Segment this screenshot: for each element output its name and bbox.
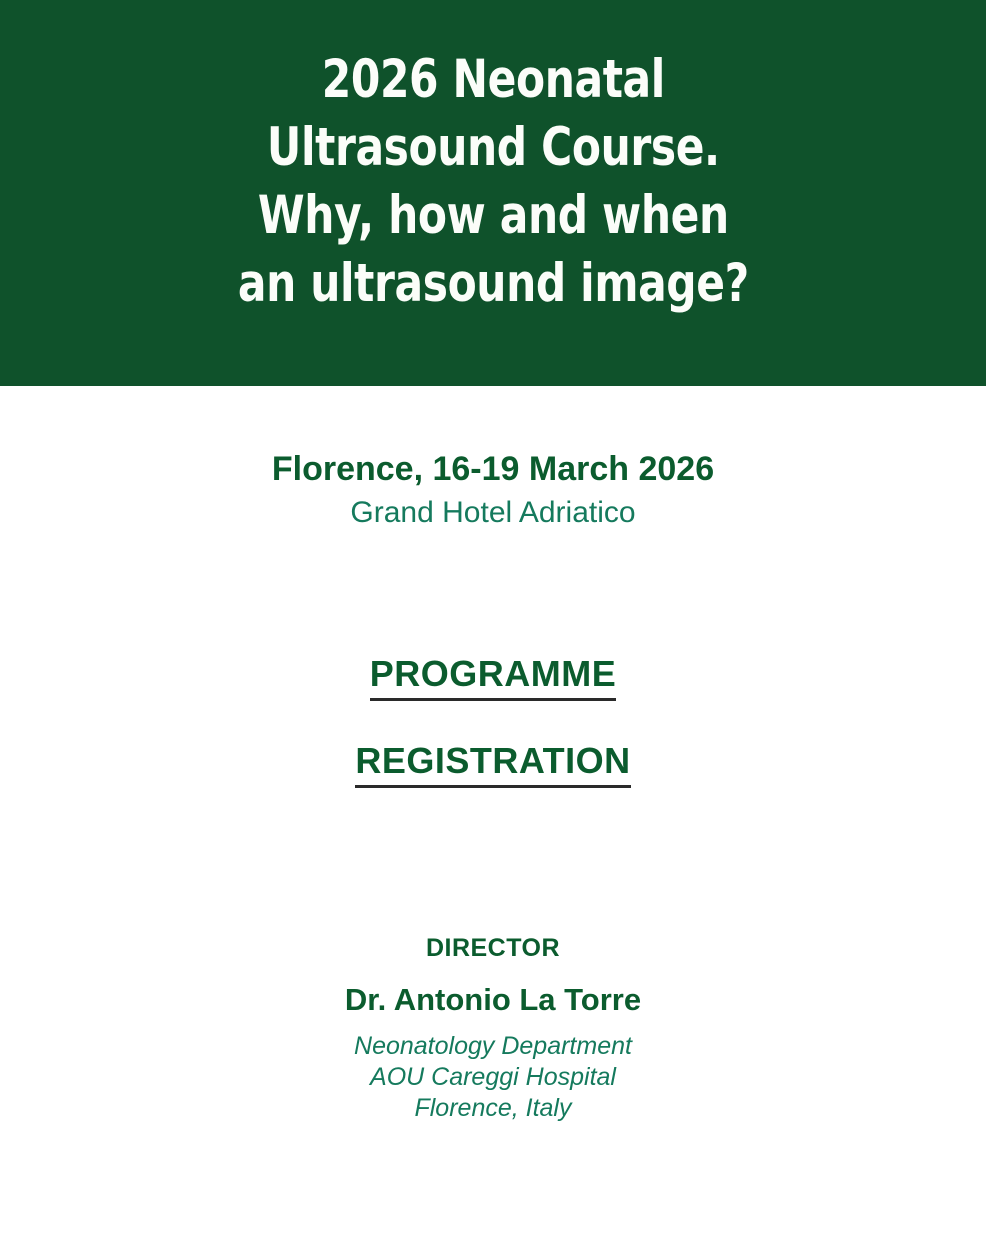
page-title-line-4: an ultrasound image? [238, 250, 749, 318]
page-title-line-1: 2026 Neonatal [238, 46, 749, 114]
event-venue: Grand Hotel Adriatico [0, 494, 986, 532]
hero-banner: 2026 Neonatal Ultrasound Course. Why, ho… [0, 0, 986, 386]
programme-link-row: PROGRAMME [0, 652, 986, 701]
director-name: Dr. Antonio La Torre [0, 981, 986, 1019]
registration-link[interactable]: REGISTRATION [355, 739, 630, 788]
document-body: Florence, 16-19 March 2026 Grand Hotel A… [0, 448, 986, 1124]
affiliation-line-1: Neonatology Department [0, 1031, 986, 1062]
event-dates: Florence, 16-19 March 2026 [0, 448, 986, 490]
document-links: PROGRAMME REGISTRATION [0, 652, 986, 788]
affiliation-line-3: Florence, Italy [0, 1093, 986, 1124]
page-title: 2026 Neonatal Ultrasound Course. Why, ho… [238, 46, 749, 318]
director-affiliation: Neonatology Department AOU Careggi Hospi… [0, 1031, 986, 1124]
event-details: Florence, 16-19 March 2026 Grand Hotel A… [0, 448, 986, 532]
registration-link-row: REGISTRATION [0, 739, 986, 788]
page-title-line-3: Why, how and when [238, 182, 749, 250]
programme-link[interactable]: PROGRAMME [370, 652, 617, 701]
page-title-line-2: Ultrasound Course. [238, 114, 749, 182]
director-section: DIRECTOR Dr. Antonio La Torre Neonatolog… [0, 933, 986, 1124]
affiliation-line-2: AOU Careggi Hospital [0, 1062, 986, 1093]
director-section-label: DIRECTOR [0, 933, 986, 963]
